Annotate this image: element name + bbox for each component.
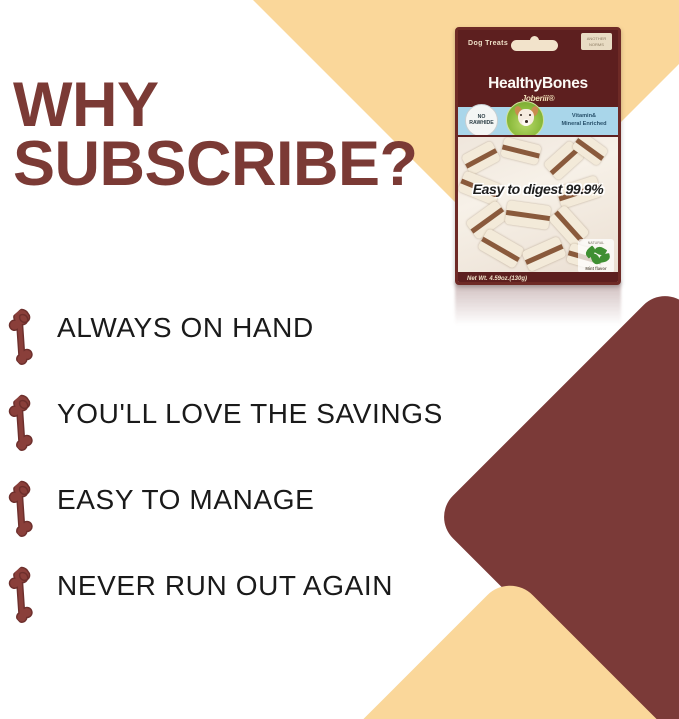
package-net-weight: Net Wt. 4.59oz.(130g) — [458, 272, 618, 285]
package-product-window: Easy to digest 99.9% NATURAL Mint flavor… — [458, 135, 618, 285]
bone-icon — [0, 562, 57, 627]
mint-leaf-icon — [598, 253, 610, 263]
mint-badge-top-text: NATURAL — [578, 241, 614, 245]
no-rawhide-seal-icon: NO RAWHIDE — [465, 104, 498, 137]
package-reflection — [455, 281, 621, 325]
page-title: WHY SUBSCRIBE? — [13, 76, 433, 193]
dog-photo-icon — [506, 101, 544, 139]
package-header: Dog Treats ANOTHER NORMS — [458, 30, 618, 77]
benefit-label: NEVER RUN OUT AGAIN — [57, 570, 393, 602]
bone-icon — [0, 304, 57, 369]
treat-chip — [500, 137, 542, 166]
list-item: NEVER RUN OUT AGAIN — [0, 561, 460, 647]
package-info-band: NO RAWHIDE Vitamin& Mineral Enriched — [458, 107, 618, 135]
mint-flavor-badge: NATURAL Mint flavor — [578, 239, 614, 273]
easy-to-digest-banner: Easy to digest 99.9% — [458, 181, 618, 197]
benefit-label: YOU'LL LOVE THE SAVINGS — [57, 398, 443, 430]
headline-line-1: WHY — [13, 76, 433, 135]
package-brand-name: HealthyBones — [458, 75, 618, 93]
dog-nose — [525, 120, 528, 123]
vitamin-line-2: Mineral Enriched — [561, 121, 606, 127]
treat-chip — [477, 228, 525, 269]
treat-chip — [505, 200, 552, 230]
list-item: ALWAYS ON HAND — [0, 303, 460, 389]
list-item: EASY TO MANAGE — [0, 475, 460, 561]
list-item: YOU'LL LOVE THE SAVINGS — [0, 389, 460, 475]
benefit-label: EASY TO MANAGE — [57, 484, 314, 516]
package-sub-brand: Joberiii® — [458, 94, 618, 103]
package-corner-tag: ANOTHER NORMS — [581, 33, 612, 50]
benefit-label: ALWAYS ON HAND — [57, 312, 314, 344]
mint-flavor-label: Mint flavor — [578, 266, 614, 271]
bone-icon — [0, 476, 57, 541]
benefits-list: ALWAYS ON HAND YOU'LL LOVE THE SAVINGS E… — [0, 303, 460, 647]
treat-chip — [521, 236, 566, 272]
product-package-image: Dog Treats ANOTHER NORMS HealthyBones Jo… — [455, 27, 621, 285]
package-vitamin-claim: Vitamin& Mineral Enriched — [554, 112, 614, 129]
seal-line-2: RAWHIDE — [469, 120, 494, 126]
subscription-promo-graphic: WHY SUBSCRIBE? ALWAYS ON HAND YOU'LL LOV… — [0, 0, 679, 719]
headline-line-2: SUBSCRIBE? — [13, 135, 433, 194]
vitamin-line-1: Vitamin& — [572, 113, 596, 119]
package-category-label: Dog Treats — [468, 40, 508, 47]
hang-hole-slot — [511, 40, 558, 51]
bone-icon — [0, 390, 57, 455]
